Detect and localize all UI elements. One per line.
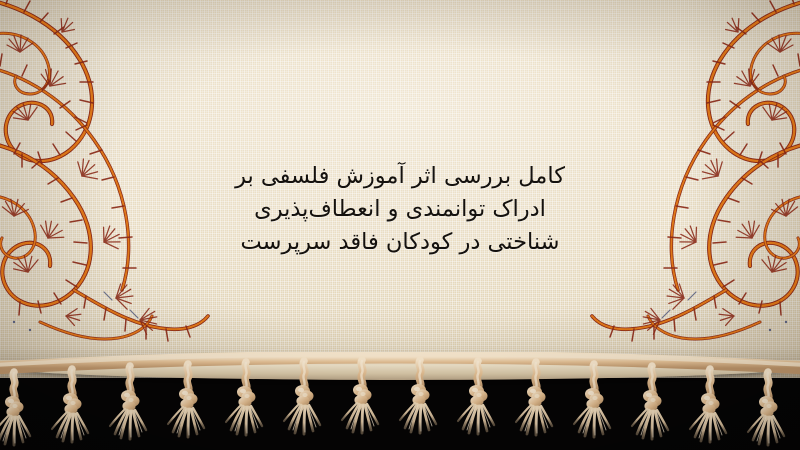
linen-cloth [0, 0, 800, 378]
textile-banner-canvas: کامل بررسی اثر آموزش فلسفی بر ادراک توان… [0, 0, 800, 450]
cloth-right-shading [684, 0, 800, 378]
cloth-top-shading [0, 0, 800, 56]
cloth-left-shading [0, 0, 116, 378]
